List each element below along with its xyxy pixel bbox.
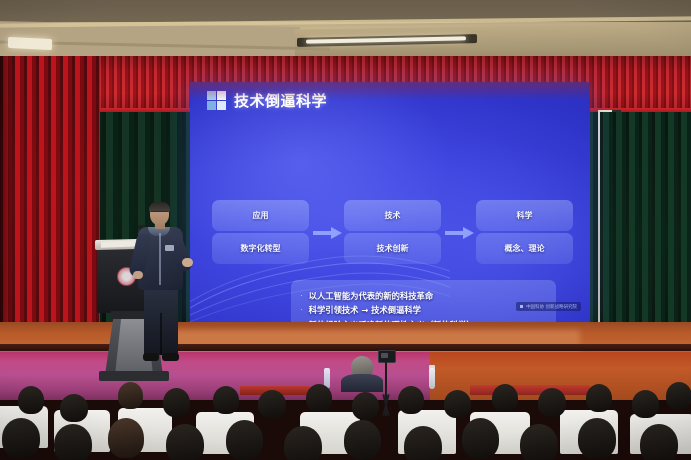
audience-head: [118, 382, 143, 409]
flow-box-3-top-label: 科学: [517, 210, 533, 221]
audience-head-front: [344, 420, 381, 460]
slide-watermark: 中国科协 创新战略研究院: [516, 302, 581, 311]
flow-box-1-top: 应用: [212, 200, 309, 231]
audience-head: [163, 388, 190, 417]
audience-head: [586, 384, 612, 412]
auditorium-photo: 技术倒逼科学 应用 数字化转型 技术: [0, 0, 691, 460]
audience-head: [306, 384, 332, 412]
flow-box-3-top: 科学: [476, 200, 573, 231]
flow-box-2-top: 技术: [344, 200, 441, 231]
flow-box-3-bottom: 概念、理论: [476, 233, 573, 264]
flow-box-2-top-label: 技术: [385, 210, 401, 221]
camera-lens-icon: [381, 353, 388, 358]
audience-shoulders: [341, 374, 383, 392]
flow-box-3-bottom-label: 概念、理论: [505, 243, 545, 254]
audience-head: [18, 386, 44, 414]
bullet-marker: ·: [300, 304, 303, 316]
bullet-text: 以人工智能为代表的新的科技革命: [309, 290, 433, 302]
audience-head: [632, 390, 659, 418]
watermark-text: 中国科协 创新战略研究院: [526, 304, 577, 310]
audience-head-front: [108, 418, 144, 458]
audience-head-front: [640, 424, 678, 460]
audience-head-front: [166, 424, 204, 460]
audience-head-front: [284, 426, 322, 460]
presenter-hand-right: [182, 258, 193, 267]
audience-head: [352, 392, 379, 420]
audience-head-front: [404, 426, 442, 460]
presenter-badge: [165, 245, 174, 251]
presenter-hand-left: [133, 271, 143, 279]
audience-head: [213, 386, 239, 414]
audience-head: [444, 390, 471, 418]
audience: [0, 360, 691, 460]
flow-box-2: 技术 技术创新: [344, 200, 441, 264]
flow-box-1-bottom: 数字化转型: [212, 233, 309, 264]
presenter-glasses: [151, 211, 168, 216]
presenter: [134, 203, 196, 363]
right-arrow-icon-2: [445, 226, 475, 240]
flow-diagram: 应用 数字化转型 技术 技术创新: [212, 200, 572, 268]
projection-screen-frame: 技术倒逼科学 应用 数字化转型 技术: [190, 82, 590, 322]
flow-box-2-bottom-label: 技术创新: [377, 243, 409, 254]
audience-head: [492, 384, 518, 412]
audience-head: [398, 386, 424, 414]
audience-head-front: [578, 418, 616, 459]
screen-top-reflection: [190, 82, 590, 100]
right-arrow-icon: [313, 226, 343, 240]
audience-head: [60, 394, 88, 422]
flow-box-1-bottom-label: 数字化转型: [241, 243, 281, 254]
bullet-item: · 科学引领技术 → 技术倒逼科学: [300, 304, 547, 316]
flow-box-1: 应用 数字化转型: [212, 200, 309, 264]
watermark-square-icon: [520, 305, 523, 308]
audience-head-front: [226, 420, 263, 460]
flow-box-3: 科学 概念、理论: [476, 200, 573, 264]
audience-head: [538, 388, 566, 417]
presenter-jacket-zip: [159, 233, 161, 285]
bullet-item: · 以人工智能为代表的新的科技革命: [300, 290, 547, 302]
audience-head-front: [2, 418, 40, 458]
audience-head: [258, 390, 286, 418]
audience-head-front: [54, 424, 92, 460]
audience-head-front: [462, 418, 499, 459]
flow-box-1-top-label: 应用: [253, 210, 269, 221]
presenter-leg-split: [160, 313, 162, 355]
bullet-marker: ·: [300, 290, 303, 302]
ceiling-light-left: [8, 37, 52, 50]
bullet-text: 科学引领技术 → 技术倒逼科学: [309, 304, 421, 316]
audience-head-front: [520, 424, 558, 460]
projection-screen: 技术倒逼科学 应用 数字化转型 技术: [190, 82, 590, 322]
ceiling: [0, 0, 691, 62]
bullet-panel: · 以人工智能为代表的新的科技革命 · 科学引领技术 → 技术倒逼科学 · 新的…: [291, 280, 556, 322]
flow-box-2-bottom: 技术创新: [344, 233, 441, 264]
audience-head: [666, 382, 691, 410]
